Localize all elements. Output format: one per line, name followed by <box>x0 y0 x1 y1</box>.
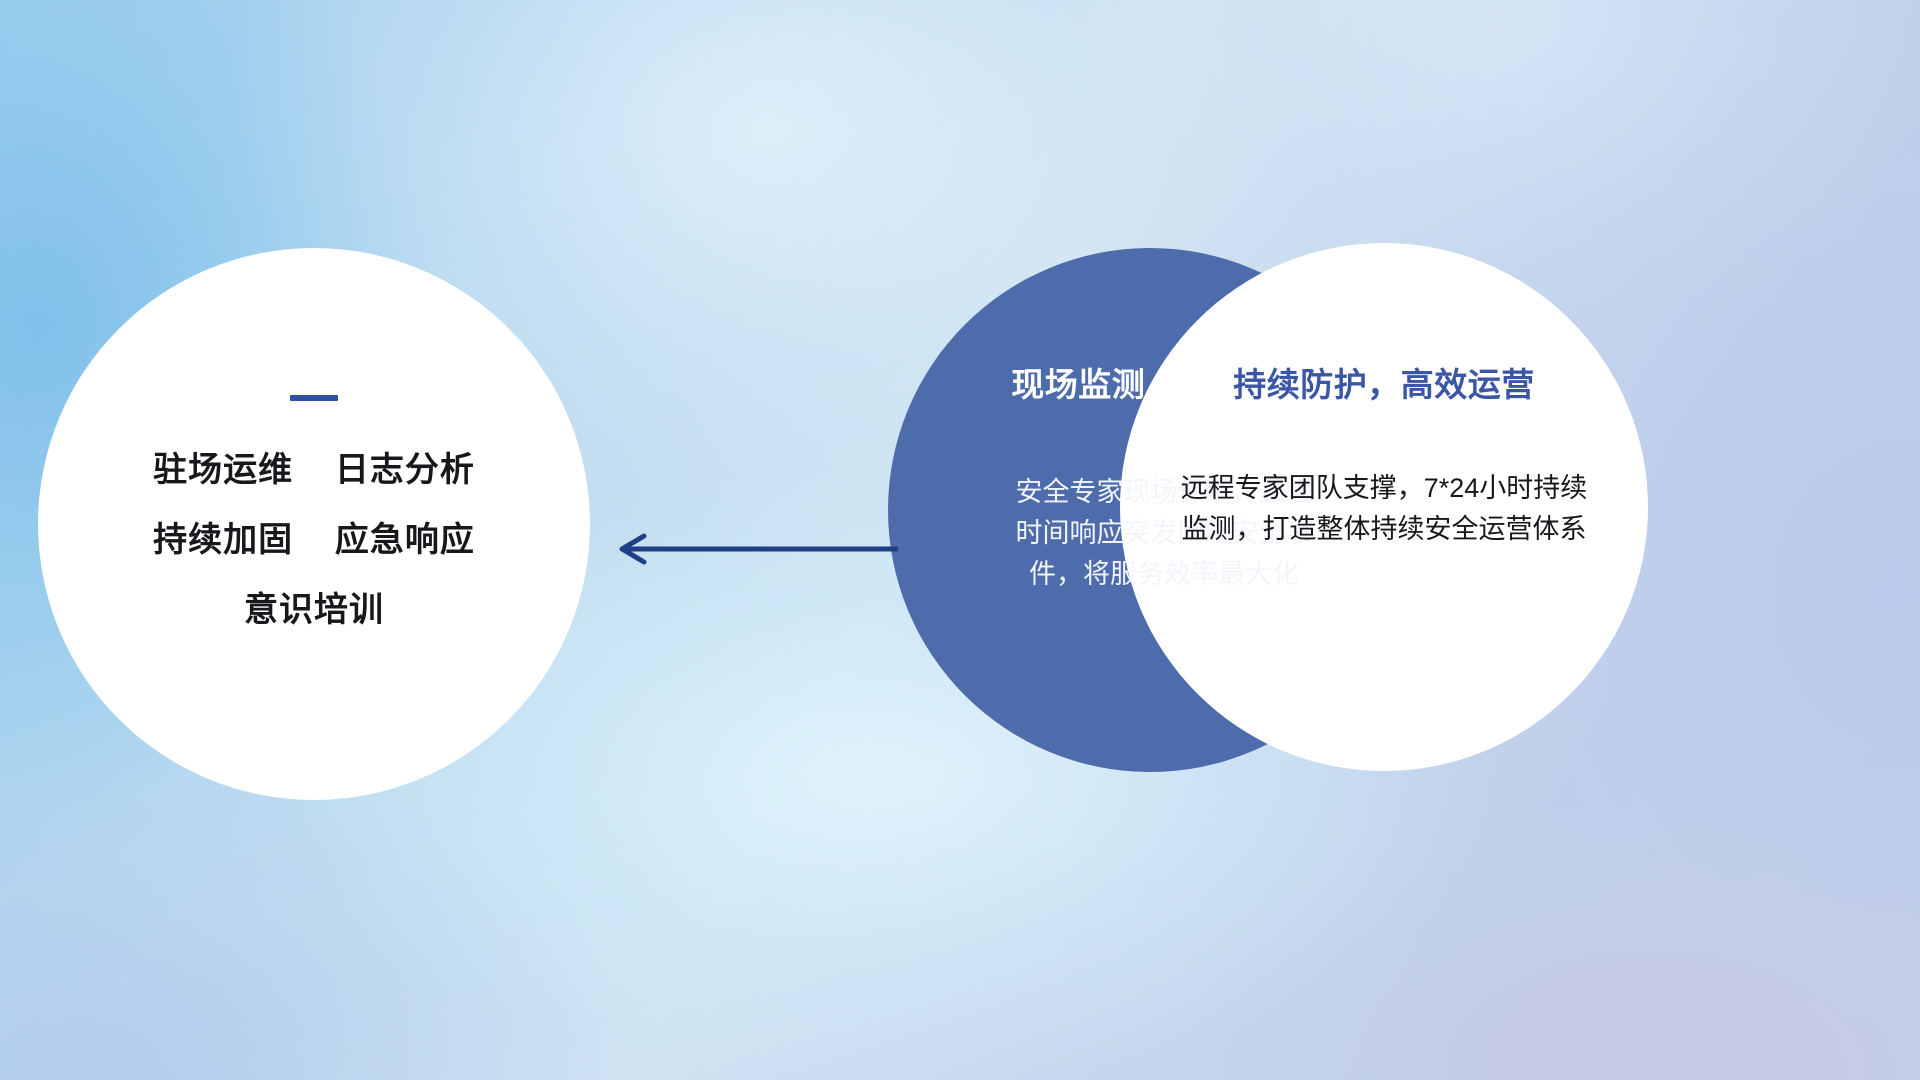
right-circle-content: 持续防护，高效运营 远程专家团队支撑，7*24小时持续监测，打造整体持续安全运营… <box>1120 243 1648 771</box>
right-circle-body: 远程专家团队支撑，7*24小时持续监测，打造整体持续安全运营体系 <box>1178 468 1590 550</box>
accent-dash-divider <box>290 395 338 401</box>
left-circle-content: 驻场运维 日志分析 持续加固 应急响应 意识培训 <box>38 248 590 800</box>
connector-arrow-left <box>600 516 900 582</box>
arrow-left-icon <box>600 516 900 582</box>
left-keyword-line-1: 驻场运维 日志分析 <box>153 453 475 487</box>
left-keyword-line-3: 意识培训 <box>244 593 384 627</box>
left-keyword-line-2: 持续加固 应急响应 <box>153 523 475 557</box>
right-circle-title: 持续防护，高效运营 <box>1233 358 1535 406</box>
slide-canvas: 驻场运维 日志分析 持续加固 应急响应 意识培训 现场监测，快速响应 安全专家现… <box>0 0 1920 1080</box>
